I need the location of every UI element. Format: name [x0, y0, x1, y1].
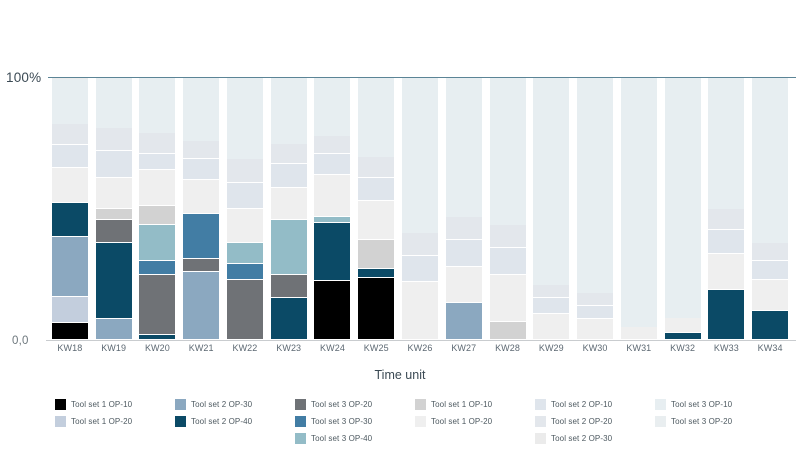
legend-item[interactable]: Tool set 2 OP-30 [535, 432, 655, 444]
y-axis-max-label: 100% [6, 70, 41, 85]
x-tick-label: KW24 [311, 343, 355, 353]
bar-segment[interactable] [52, 79, 88, 124]
stacked-bar[interactable] [183, 78, 219, 340]
legend-item[interactable]: Tool set 3 OP-20 [295, 398, 415, 410]
bar-segment[interactable] [52, 168, 88, 202]
legend-swatch-icon [415, 416, 426, 427]
bar-segment[interactable] [577, 319, 613, 340]
bar-segment[interactable] [314, 281, 350, 340]
legend-swatch-icon [175, 399, 186, 410]
legend-column: Tool set 3 OP-20Tool set 3 OP-30Tool set… [295, 398, 415, 444]
bar-segment[interactable] [271, 144, 307, 165]
bar-segment[interactable] [52, 124, 88, 145]
legend-swatch-icon [295, 416, 306, 427]
bar-column[interactable] [267, 78, 311, 340]
bar-segment[interactable] [708, 254, 744, 291]
legend-label: Tool set 3 OP-10 [671, 400, 732, 409]
bar-column[interactable] [179, 78, 223, 340]
bar-segment[interactable] [446, 217, 482, 241]
legend-item[interactable]: Tool set 2 OP-20 [535, 415, 655, 427]
bar-segment[interactable] [52, 323, 88, 340]
x-tick-label: KW28 [486, 343, 530, 353]
bar-segment[interactable] [752, 243, 788, 261]
x-tick-label: KW32 [661, 343, 705, 353]
bar-segment[interactable] [139, 206, 175, 224]
legend-label: Tool set 2 OP-40 [191, 417, 252, 426]
axis-bottom-line [46, 340, 796, 341]
legend-column: Tool set 1 OP-10Tool set 1 OP-20 [55, 398, 175, 444]
bar-segment[interactable] [665, 333, 701, 340]
legend-column: Tool set 2 OP-10Tool set 2 OP-20Tool set… [535, 398, 655, 444]
bar-column[interactable] [573, 78, 617, 340]
bar-segment[interactable] [271, 78, 307, 144]
bar-column[interactable] [311, 78, 355, 340]
legend-item[interactable]: Tool set 1 OP-10 [415, 398, 535, 410]
bar-segment[interactable] [227, 264, 263, 280]
x-tick-label: KW22 [223, 343, 267, 353]
legend-item[interactable]: Tool set 1 OP-20 [415, 415, 535, 427]
legend-label: Tool set 3 OP-20 [311, 400, 372, 409]
bar-segment[interactable] [752, 280, 788, 311]
legend: Tool set 1 OP-10Tool set 1 OP-20Tool set… [55, 398, 775, 444]
y-axis-min-label: 0,0 [12, 335, 29, 347]
bar-segment[interactable] [358, 269, 394, 278]
stacked-bar[interactable] [708, 78, 744, 340]
bar-segment[interactable] [708, 230, 744, 254]
bar-segment[interactable] [358, 157, 394, 178]
legend-item[interactable]: Tool set 3 OP-30 [295, 415, 415, 427]
stacked-bar[interactable] [621, 78, 657, 340]
bar-segment[interactable] [139, 335, 175, 340]
stacked-bar[interactable] [52, 78, 88, 340]
x-axis-title: Time unit [0, 368, 800, 382]
bar-segment[interactable] [139, 170, 175, 207]
bar-segment[interactable] [665, 318, 701, 334]
legend-swatch-icon [535, 416, 546, 427]
x-tick-label: KW27 [442, 343, 486, 353]
bar-segment[interactable] [665, 78, 701, 318]
bar-segment[interactable] [621, 327, 657, 340]
stacked-bar[interactable] [490, 78, 526, 340]
legend-column: Tool set 1 OP-10Tool set 1 OP-20 [415, 398, 535, 444]
bar-segment[interactable] [446, 267, 482, 304]
bar-segment[interactable] [271, 188, 307, 219]
bar-segment[interactable] [490, 78, 526, 225]
bar-segment[interactable] [752, 311, 788, 340]
stacked-bar[interactable] [227, 78, 263, 340]
bar-segment[interactable] [533, 314, 569, 340]
bar-segment[interactable] [533, 285, 569, 298]
legend-swatch-icon [415, 399, 426, 410]
bar-segment[interactable] [183, 180, 219, 214]
bar-segment[interactable] [577, 293, 613, 306]
stacked-bar[interactable] [402, 78, 438, 340]
bar-segment[interactable] [402, 233, 438, 257]
x-tick-label: KW29 [529, 343, 573, 353]
bar-segment[interactable] [314, 78, 350, 136]
bar-segment[interactable] [183, 272, 219, 340]
legend-label: Tool set 2 OP-30 [191, 400, 252, 409]
bar-segment[interactable] [490, 322, 526, 340]
legend-label: Tool set 1 OP-10 [71, 400, 132, 409]
bar-column[interactable] [48, 78, 92, 340]
legend-item[interactable]: Tool set 3 OP-40 [295, 432, 415, 444]
bar-segment[interactable] [358, 201, 394, 240]
stacked-bar[interactable] [96, 78, 132, 340]
legend-label: Tool set 1 OP-20 [71, 417, 132, 426]
bar-segment[interactable] [227, 243, 263, 264]
bar-column[interactable] [223, 78, 267, 340]
bar-segment[interactable] [271, 220, 307, 275]
bar-segment[interactable] [708, 209, 744, 230]
bar-column[interactable] [661, 78, 705, 340]
bar-segment[interactable] [227, 209, 263, 243]
bar-segment[interactable] [402, 256, 438, 282]
stacked-bar[interactable] [533, 78, 569, 340]
bar-segment[interactable] [271, 298, 307, 340]
bar-segment[interactable] [96, 220, 132, 244]
x-tick-label: KW25 [354, 343, 398, 353]
bar-segment[interactable] [708, 290, 744, 340]
bar-segment[interactable] [52, 145, 88, 169]
bar-segment[interactable] [708, 78, 744, 209]
bar-segment[interactable] [271, 164, 307, 188]
bar-segment[interactable] [96, 128, 132, 152]
legend-label: Tool set 1 OP-20 [431, 417, 492, 426]
legend-item[interactable]: Tool set 2 OP-30 [175, 398, 295, 410]
bar-segment[interactable] [490, 225, 526, 249]
x-tick-label: KW21 [179, 343, 223, 353]
x-tick-label: KW19 [92, 343, 136, 353]
bar-column[interactable] [704, 78, 748, 340]
bar-segment[interactable] [139, 225, 175, 262]
bar-segment[interactable] [96, 319, 132, 340]
x-axis-tick-labels: KW18KW19KW20KW21KW22KW23KW24KW25KW26KW27… [48, 343, 792, 353]
legend-label: Tool set 2 OP-30 [551, 434, 612, 443]
x-tick-label: KW34 [748, 343, 792, 353]
bar-segment[interactable] [577, 78, 613, 293]
legend-swatch-icon [55, 399, 66, 410]
bar-column[interactable] [442, 78, 486, 340]
bar-segment[interactable] [183, 259, 219, 272]
x-tick-label: KW31 [617, 343, 661, 353]
legend-item[interactable]: Tool set 1 OP-10 [55, 398, 175, 410]
bar-column[interactable] [136, 78, 180, 340]
bar-segment[interactable] [402, 282, 438, 340]
legend-item[interactable]: Tool set 2 OP-10 [535, 398, 655, 410]
bar-segment[interactable] [446, 303, 482, 340]
legend-swatch-icon [295, 399, 306, 410]
bar-segment[interactable] [139, 154, 175, 170]
chart-root: 100% 0,0 KW18KW19KW20KW21KW22KW23KW24KW2… [0, 0, 800, 450]
bar-column[interactable] [617, 78, 661, 340]
legend-label: Tool set 3 OP-40 [311, 434, 372, 443]
bar-segment[interactable] [358, 240, 394, 269]
bar-segment[interactable] [752, 261, 788, 279]
legend-column: Tool set 2 OP-30Tool set 2 OP-40 [175, 398, 295, 444]
bar-segment[interactable] [577, 306, 613, 319]
bar-segment[interactable] [752, 78, 788, 243]
legend-swatch-icon [55, 416, 66, 427]
bar-segment[interactable] [139, 133, 175, 154]
bar-column[interactable] [748, 78, 792, 340]
bar-segment[interactable] [446, 240, 482, 266]
legend-item[interactable]: Tool set 3 OP-10 [655, 398, 775, 410]
bar-column[interactable] [354, 78, 398, 340]
legend-swatch-icon [295, 433, 306, 444]
bar-segment[interactable] [227, 280, 263, 340]
x-tick-label: KW33 [704, 343, 748, 353]
legend-swatch-icon [535, 399, 546, 410]
stacked-bar[interactable] [446, 78, 482, 340]
bar-segment[interactable] [227, 159, 263, 183]
bar-segment[interactable] [271, 275, 307, 299]
stacked-bar[interactable] [271, 78, 307, 340]
bar-segment[interactable] [96, 243, 132, 319]
bar-segment[interactable] [183, 159, 219, 180]
bar-segment[interactable] [183, 78, 219, 141]
stacked-bar[interactable] [752, 78, 788, 340]
legend-swatch-icon [535, 433, 546, 444]
legend-label: Tool set 2 OP-10 [551, 400, 612, 409]
legend-label: Tool set 3 OP-30 [311, 417, 372, 426]
x-tick-label: KW30 [573, 343, 617, 353]
bar-segment[interactable] [183, 214, 219, 259]
legend-swatch-icon [655, 399, 666, 410]
stacked-bar[interactable] [139, 78, 175, 340]
x-tick-label: KW18 [48, 343, 92, 353]
stacked-bar[interactable] [577, 78, 613, 340]
bar-segment[interactable] [402, 78, 438, 233]
legend-item[interactable]: Tool set 2 OP-40 [175, 415, 295, 427]
plot-area [48, 78, 792, 340]
bar-segment[interactable] [446, 78, 482, 217]
legend-column: Tool set 3 OP-10Tool set 3 OP-20 [655, 398, 775, 444]
bar-segment[interactable] [533, 78, 569, 285]
bar-group [48, 78, 792, 340]
bar-segment[interactable] [314, 223, 350, 281]
bar-segment[interactable] [314, 154, 350, 175]
legend-swatch-icon [655, 416, 666, 427]
legend-label: Tool set 1 OP-10 [431, 400, 492, 409]
bar-segment[interactable] [358, 78, 394, 157]
bar-segment[interactable] [621, 78, 657, 327]
bar-column[interactable] [486, 78, 530, 340]
bar-segment[interactable] [227, 183, 263, 209]
bar-segment[interactable] [96, 78, 132, 128]
bar-segment[interactable] [227, 78, 263, 159]
stacked-bar[interactable] [665, 78, 701, 340]
legend-item[interactable]: Tool set 3 OP-20 [655, 415, 775, 427]
legend-label: Tool set 2 OP-20 [551, 417, 612, 426]
bar-segment[interactable] [139, 78, 175, 133]
bar-segment[interactable] [139, 275, 175, 335]
x-tick-label: KW23 [267, 343, 311, 353]
bar-segment[interactable] [314, 175, 350, 217]
bar-column[interactable] [398, 78, 442, 340]
bar-segment[interactable] [358, 178, 394, 202]
legend-swatch-icon [175, 416, 186, 427]
legend-item[interactable]: Tool set 1 OP-20 [55, 415, 175, 427]
bar-segment[interactable] [52, 203, 88, 237]
stacked-bar[interactable] [314, 78, 350, 340]
x-tick-label: KW26 [398, 343, 442, 353]
x-tick-label: KW20 [136, 343, 180, 353]
bar-segment[interactable] [183, 141, 219, 159]
bar-segment[interactable] [490, 275, 526, 322]
bar-segment[interactable] [139, 261, 175, 274]
stacked-bar[interactable] [358, 78, 394, 340]
bar-segment[interactable] [96, 151, 132, 177]
bar-segment[interactable] [314, 136, 350, 154]
bar-segment[interactable] [358, 278, 394, 340]
bar-segment[interactable] [52, 297, 88, 323]
bar-segment[interactable] [96, 178, 132, 209]
bar-segment[interactable] [52, 237, 88, 297]
bar-segment[interactable] [533, 298, 569, 314]
bar-segment[interactable] [490, 248, 526, 274]
legend-label: Tool set 3 OP-20 [671, 417, 732, 426]
bar-column[interactable] [92, 78, 136, 340]
bar-column[interactable] [529, 78, 573, 340]
bar-segment[interactable] [96, 209, 132, 219]
